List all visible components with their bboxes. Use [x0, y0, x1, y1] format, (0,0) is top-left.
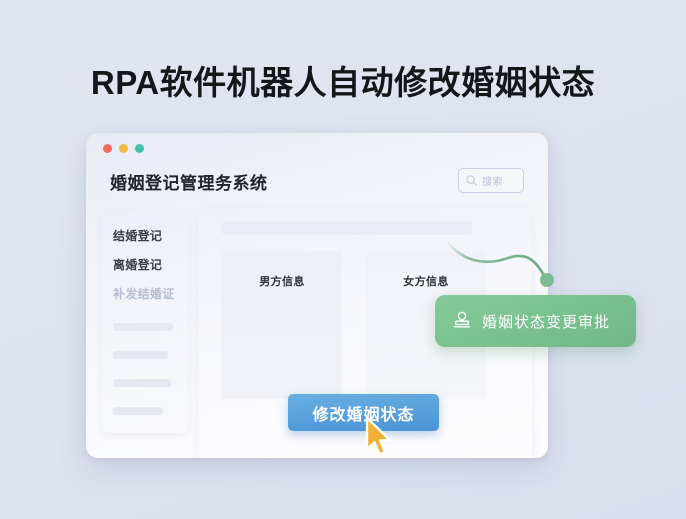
page-title: RPA软件机器人自动修改婚姻状态 [0, 56, 686, 104]
search-placeholder-label: 搜索 [482, 173, 503, 188]
sidebar-item-divorce-registration[interactable]: 离婚登记 [113, 256, 162, 273]
minimize-window-icon[interactable] [119, 144, 128, 153]
app-title: 婚姻登记管理务系统 [110, 169, 268, 194]
sidebar-item-reissue-certificate[interactable]: 补发结婚证 [113, 285, 175, 302]
sidebar-placeholder-row [113, 407, 163, 415]
approval-badge[interactable]: 婚姻状态变更审批 [435, 295, 636, 347]
window-titlebar [86, 133, 548, 163]
close-window-icon[interactable] [103, 144, 112, 153]
sidebar-placeholder-row [113, 379, 171, 387]
traffic-lights [103, 144, 144, 153]
stamp-icon [451, 310, 473, 332]
sidebar-item-marriage-registration[interactable]: 结婚登记 [113, 227, 162, 244]
approval-badge-label: 婚姻状态变更审批 [482, 311, 610, 332]
search-input[interactable]: 搜索 [458, 168, 524, 193]
search-icon [465, 174, 478, 187]
modify-marriage-status-button[interactable]: 修改婚姻状态 [288, 394, 439, 431]
app-header: 婚姻登记管理务系统 搜索 [86, 163, 548, 205]
sidebar: 结婚登记 离婚登记 补发结婚证 [102, 211, 188, 433]
info-card-groom[interactable]: 男方信息 [222, 251, 342, 399]
sidebar-placeholder-row [113, 323, 173, 331]
info-card-groom-label: 男方信息 [222, 273, 342, 289]
sidebar-placeholder-row [113, 351, 168, 359]
maximize-window-icon[interactable] [135, 144, 144, 153]
info-card-bride-label: 女方信息 [366, 273, 486, 289]
panel-header-placeholder [222, 221, 472, 235]
